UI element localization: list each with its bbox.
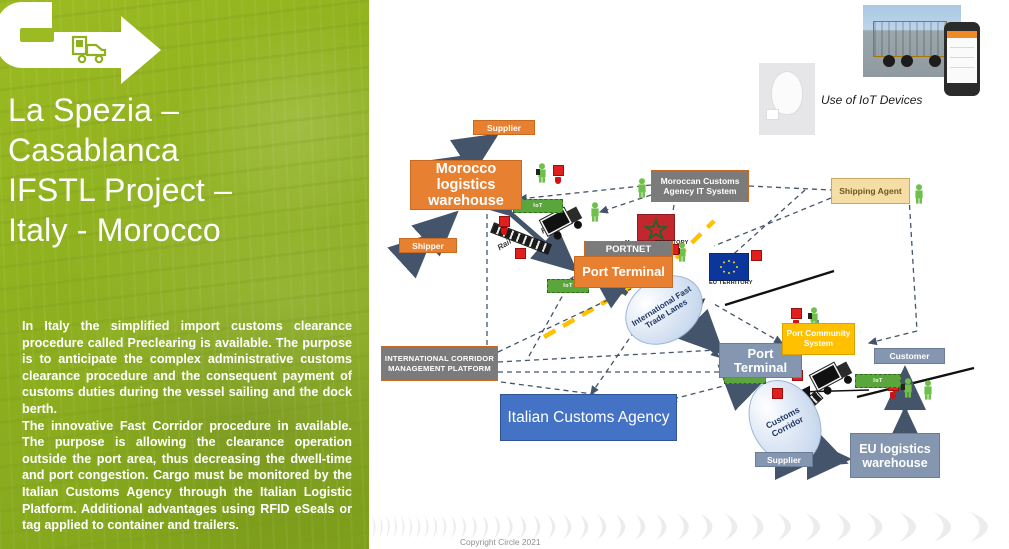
arrow-ribbon-decoration (0, 2, 176, 70)
slide-root: La Spezia – Casablanca IFSTL Project – I… (0, 0, 1009, 549)
truck-icon (70, 32, 110, 66)
left-panel: La Spezia – Casablanca IFSTL Project – I… (0, 0, 369, 549)
sensor-icon-7 (499, 216, 510, 227)
panel-body-text: In Italy the simplified import customs c… (22, 318, 352, 534)
node-supplier-eu-label: Supplier (756, 455, 812, 465)
node-shipping-agent-label: Shipping Agent (832, 186, 909, 197)
sensor-icon-8 (515, 248, 526, 259)
node-port-terminal-morocco-label: Port Terminal (575, 265, 672, 279)
node-port-terminal-morocco[interactable]: Port Terminal (574, 256, 673, 288)
copyright-text: Copyright Circle 2021 (460, 537, 541, 547)
rfid-tag-photo (759, 63, 815, 135)
page-title: La Spezia – Casablanca IFSTL Project – I… (8, 90, 360, 250)
operator-icon-1 (535, 163, 549, 183)
sensor-icon-6 (751, 250, 762, 261)
page-title-line-1: La Spezia – (8, 90, 360, 130)
node-italian-customs-agency[interactable]: Italian Customs Agency (500, 394, 677, 441)
operator-icon-3 (635, 178, 649, 198)
iot-devices-photo-group: Use of IoT Devices (369, 0, 1009, 140)
page-title-line-2: Casablanca (8, 130, 360, 170)
operator-icon-8 (921, 380, 935, 400)
node-morocco-logistics-warehouse[interactable]: Morocco logistics warehouse (410, 160, 522, 210)
iot-chip-4: IoT (855, 374, 901, 388)
flow-customs-to-warehouse (519, 185, 651, 199)
node-port-community-system-label: Port Community System (783, 329, 854, 349)
node-customer[interactable]: Customer (874, 348, 945, 364)
node-shipper-morocco[interactable]: Shipper (399, 238, 457, 253)
node-icmp-label: INTERNATIONAL CORRIDOR MANAGEMENT PLATFO… (382, 354, 497, 373)
node-supplier-morocco-label: Supplier (474, 123, 534, 133)
body-paragraph-1: In Italy the simplified import customs c… (22, 318, 352, 418)
morocco-flag-icon (637, 214, 675, 241)
node-italian-customs-agency-label: Italian Customs Agency (501, 408, 676, 428)
operator-icon-2 (588, 202, 602, 222)
handheld-scanner-photo (944, 22, 980, 96)
eseal-icon-4 (501, 228, 507, 235)
operator-icon-6 (901, 378, 915, 398)
page-title-line-3: IFSTL Project – (8, 170, 360, 210)
body-paragraph-2: The innovative Fast Corridor procedure i… (22, 418, 352, 534)
lane-cc-label: Customs Corridor (751, 398, 819, 447)
node-customer-label: Customer (875, 351, 944, 361)
sensor-icon-3 (791, 308, 802, 319)
node-port-community-system[interactable]: Port Community System (782, 323, 855, 355)
operator-icon-7 (912, 184, 926, 204)
node-moroccan-customs-agency-it-system[interactable]: Moroccan Customs Agency IT System (651, 170, 749, 202)
node-international-corridor-management-platform[interactable]: INTERNATIONAL CORRIDOR MANAGEMENT PLATFO… (381, 346, 498, 381)
node-supplier-morocco[interactable]: Supplier (473, 120, 535, 135)
node-eu-logistics-warehouse-label: EU logistics warehouse (851, 442, 939, 470)
iot-devices-caption: Use of IoT Devices (821, 93, 922, 107)
node-shipper-morocco-label: Shipper (400, 241, 456, 251)
node-supplier-eu[interactable]: Supplier (755, 452, 813, 467)
node-moroccan-customs-label: Moroccan Customs Agency IT System (652, 176, 748, 197)
eu-flag-icon (709, 253, 749, 281)
page-title-line-4: Italy - Morocco (8, 210, 360, 250)
node-morocco-logistics-warehouse-label: Morocco logistics warehouse (411, 161, 521, 209)
node-portnet-label: PORTNET (585, 244, 672, 255)
eseal-icon-1 (555, 177, 561, 184)
node-eu-logistics-warehouse[interactable]: EU logistics warehouse (850, 433, 940, 478)
node-portnet[interactable]: PORTNET (584, 241, 673, 257)
eseal-icon-3 (890, 392, 896, 399)
diagram-canvas: Use of IoT Devices Rail Road Maritime Ro… (369, 0, 1009, 549)
eu-territory-label: EU TERRITORY (709, 280, 753, 286)
sensor-icon-1 (553, 165, 564, 176)
node-shipping-agent[interactable]: Shipping Agent (831, 178, 910, 204)
flow-customs-to-shipping-agent (749, 186, 831, 190)
sensor-icon-10 (772, 388, 783, 399)
